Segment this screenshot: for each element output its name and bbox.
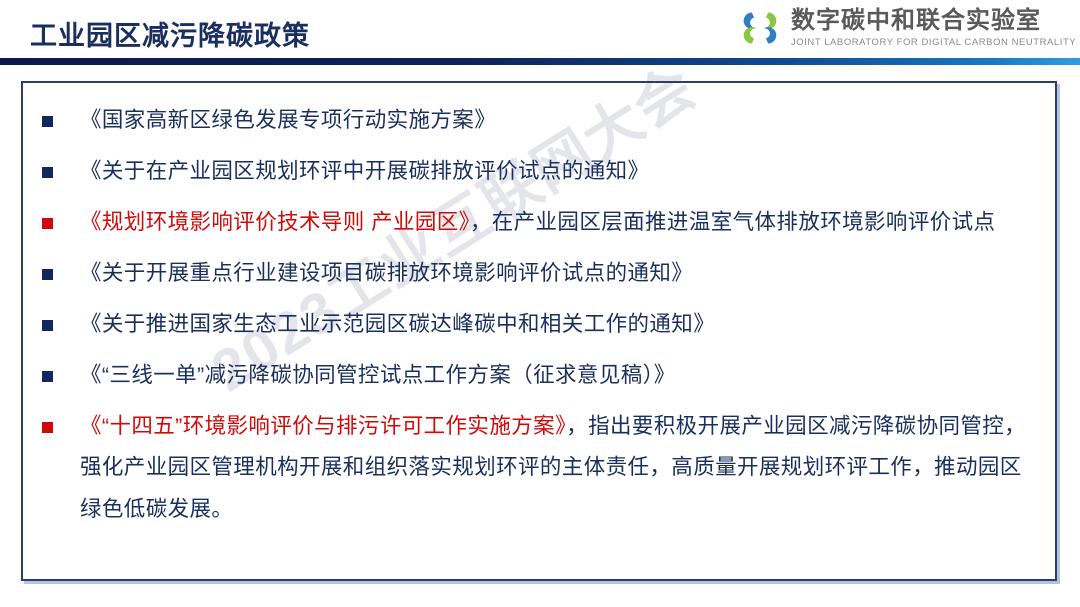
logo-name-en: JOINT LABORATORY FOR DIGITAL CARBON NEUT… <box>791 37 1076 48</box>
bullet-square-navy-icon <box>42 320 53 331</box>
list-item: 《关于在产业园区规划环评中开展碳排放评价试点的通知》 <box>40 151 1040 193</box>
logo-text-block: 数字碳中和联合实验室 JOINT LABORATORY FOR DIGITAL … <box>791 8 1076 47</box>
list-item-text: 《规划环境影响评价技术导则 产业园区》 <box>80 210 470 234</box>
bullet-square-navy-icon <box>42 116 53 127</box>
list-item-text: 《“十四五”环境影响评价与排污许可工作实施方案》 <box>80 414 566 438</box>
bullet-square-navy-icon <box>42 269 53 280</box>
bullet-square-red-icon <box>42 422 53 433</box>
list-item-text: ，在产业园区层面推进温室气体排放环境影响评价试点 <box>470 210 996 234</box>
bullet-square-navy-icon <box>42 371 53 382</box>
list-item-text: 《关于推进国家生态工业示范园区碳达峰碳中和相关工作的通知》 <box>80 312 715 336</box>
page-title: 工业园区减污降碳政策 <box>30 14 310 53</box>
logo-name-cn: 数字碳中和联合实验室 <box>791 8 1076 33</box>
pinwheel-logo-mark <box>737 8 783 48</box>
bullet-square-navy-icon <box>42 167 53 178</box>
bullet-square-red-icon <box>42 218 53 229</box>
list-item-text: 《“三线一单”减污降碳协同管控试点工作方案（征求意见稿）》 <box>80 363 676 387</box>
list-item: 《“三线一单”减污降碳协同管控试点工作方案（征求意见稿）》 <box>40 355 1040 397</box>
lab-logo: 数字碳中和联合实验室 JOINT LABORATORY FOR DIGITAL … <box>737 8 1076 48</box>
header-divider <box>0 58 1080 65</box>
list-item-text: 《国家高新区绿色发展专项行动实施方案》 <box>80 108 496 132</box>
list-item: 《“十四五”环境影响评价与排污许可工作实施方案》，指出要积极开展产业园区减污降碳… <box>40 406 1040 532</box>
slide: 工业园区减污降碳政策 数字碳中和联合实验室 JOINT LABORATORY F… <box>0 0 1080 607</box>
list-item: 《关于开展重点行业建设项目碳排放环境影响评价试点的通知》 <box>40 253 1040 295</box>
list-item: 《关于推进国家生态工业示范园区碳达峰碳中和相关工作的通知》 <box>40 304 1040 346</box>
list-item: 《国家高新区绿色发展专项行动实施方案》 <box>40 100 1040 142</box>
slide-header: 工业园区减污降碳政策 数字碳中和联合实验室 JOINT LABORATORY F… <box>0 0 1080 62</box>
list-item-text: 《关于开展重点行业建设项目碳排放环境影响评价试点的通知》 <box>80 261 693 285</box>
list-item: 《规划环境影响评价技术导则 产业园区》，在产业园区层面推进温室气体排放环境影响评… <box>40 202 1040 244</box>
list-item-text: 《关于在产业园区规划环评中开展碳排放评价试点的通知》 <box>80 159 649 183</box>
policy-bullet-list: 《国家高新区绿色发展专项行动实施方案》《关于在产业园区规划环评中开展碳排放评价试… <box>40 100 1040 540</box>
